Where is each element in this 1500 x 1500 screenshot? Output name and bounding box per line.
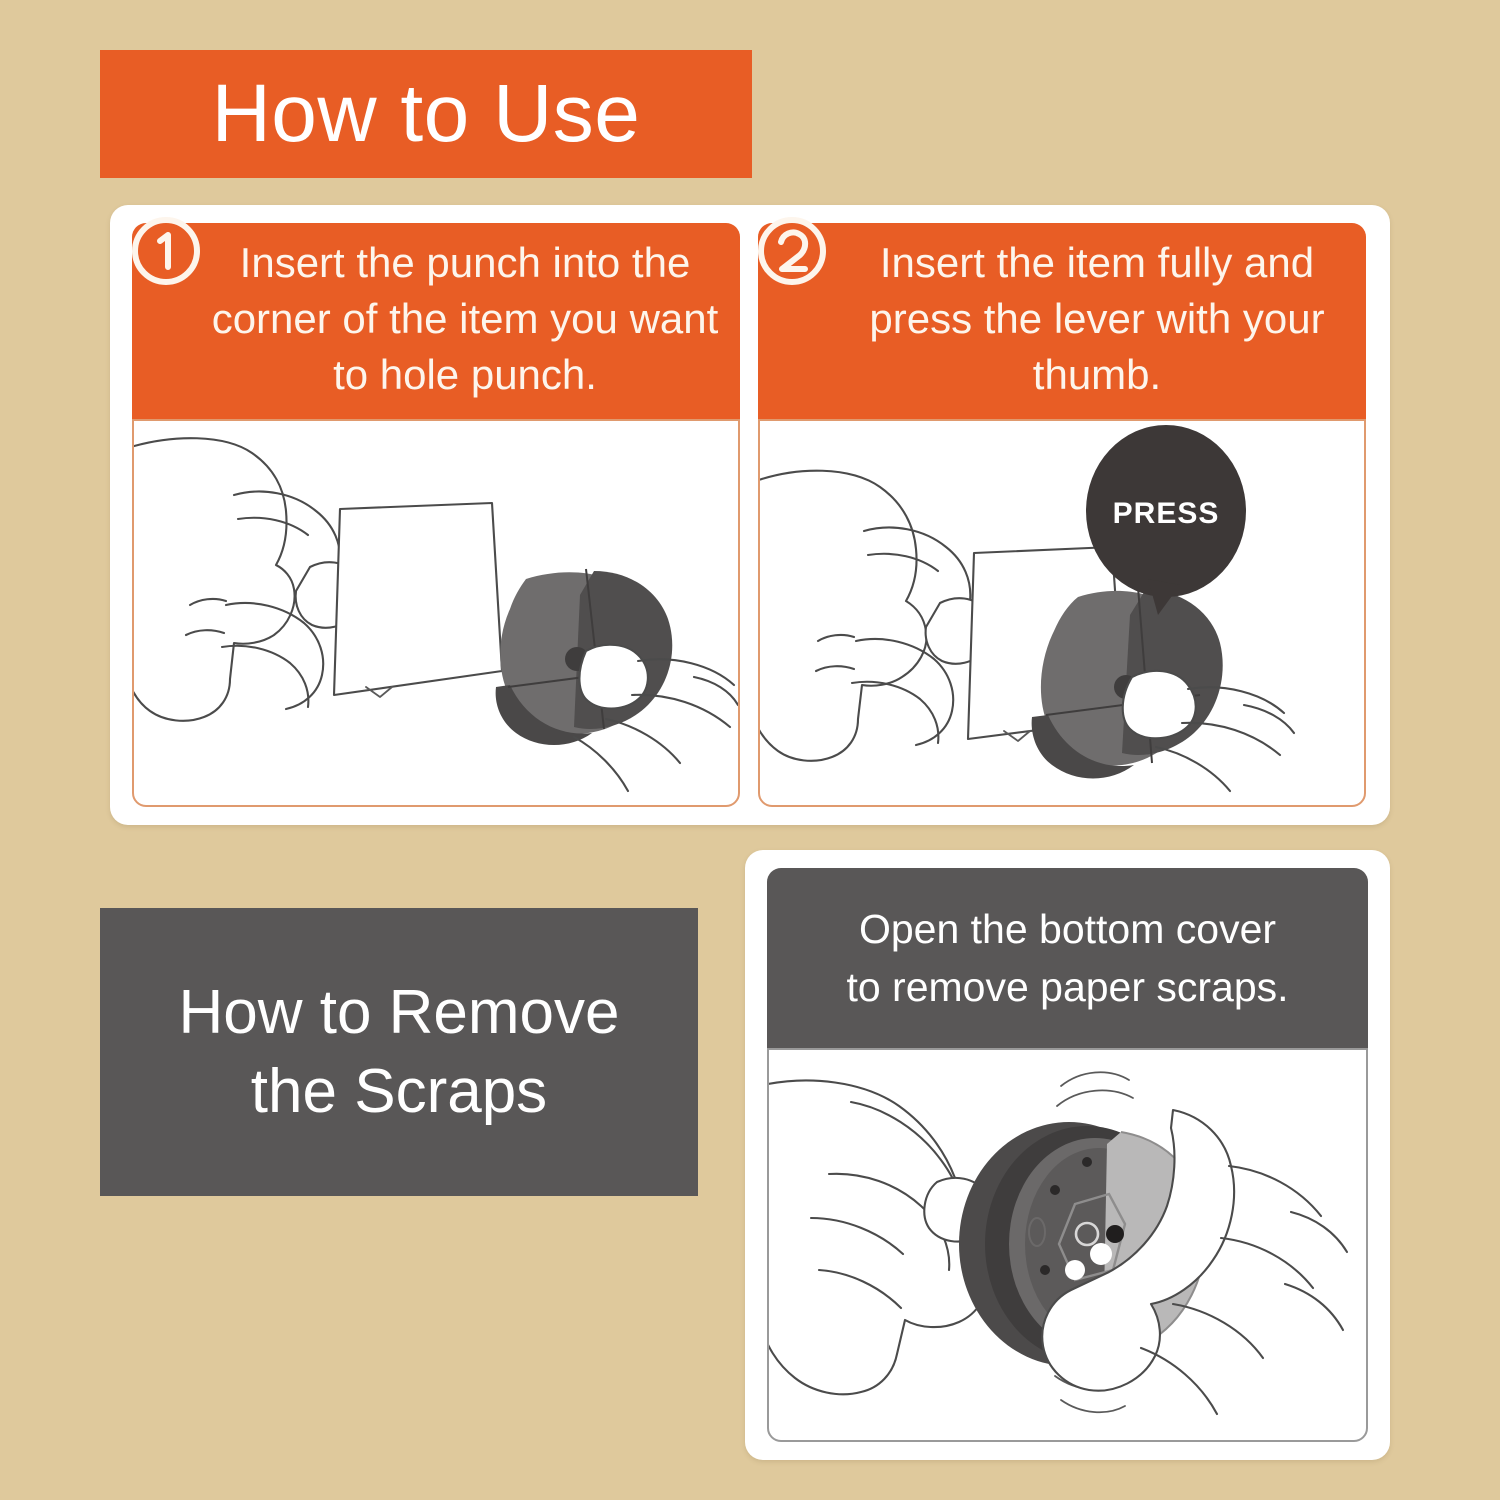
step-1-panel: Insert the punch into the corner of the …	[132, 223, 740, 807]
step-1-illustration	[132, 419, 740, 807]
scraps-header: Open the bottom cover to remove paper sc…	[767, 868, 1368, 1048]
step-2-header: Insert the item fully and press the leve…	[758, 223, 1366, 419]
how-to-remove-line-2: the Scraps	[251, 1052, 547, 1131]
how-to-use-card: Insert the punch into the corner of the …	[110, 205, 1390, 825]
scraps-text-line-2: to remove paper scraps.	[846, 958, 1288, 1016]
remove-scraps-card: Open the bottom cover to remove paper sc…	[745, 850, 1390, 1460]
step-2-text: Insert the item fully and press the leve…	[776, 235, 1348, 403]
scraps-illustration	[767, 1048, 1368, 1442]
circled-number-two-icon	[750, 209, 834, 293]
how-to-remove-line-1: How to Remove	[178, 973, 619, 1052]
page-title: How to Use	[212, 73, 641, 155]
step-2-panel: Insert the item fully and press the leve…	[758, 223, 1366, 807]
step-2-illustration: PRESS	[758, 419, 1366, 807]
step-1-text: Insert the punch into the corner of the …	[150, 235, 722, 403]
step-1-header: Insert the punch into the corner of the …	[132, 223, 740, 419]
circled-number-one-icon	[124, 209, 208, 293]
how-to-remove-banner: How to Remove the Scraps	[100, 908, 698, 1196]
title-banner: How to Use	[100, 50, 752, 178]
svg-text:PRESS: PRESS	[1113, 497, 1220, 530]
scraps-text-line-1: Open the bottom cover	[859, 900, 1276, 958]
